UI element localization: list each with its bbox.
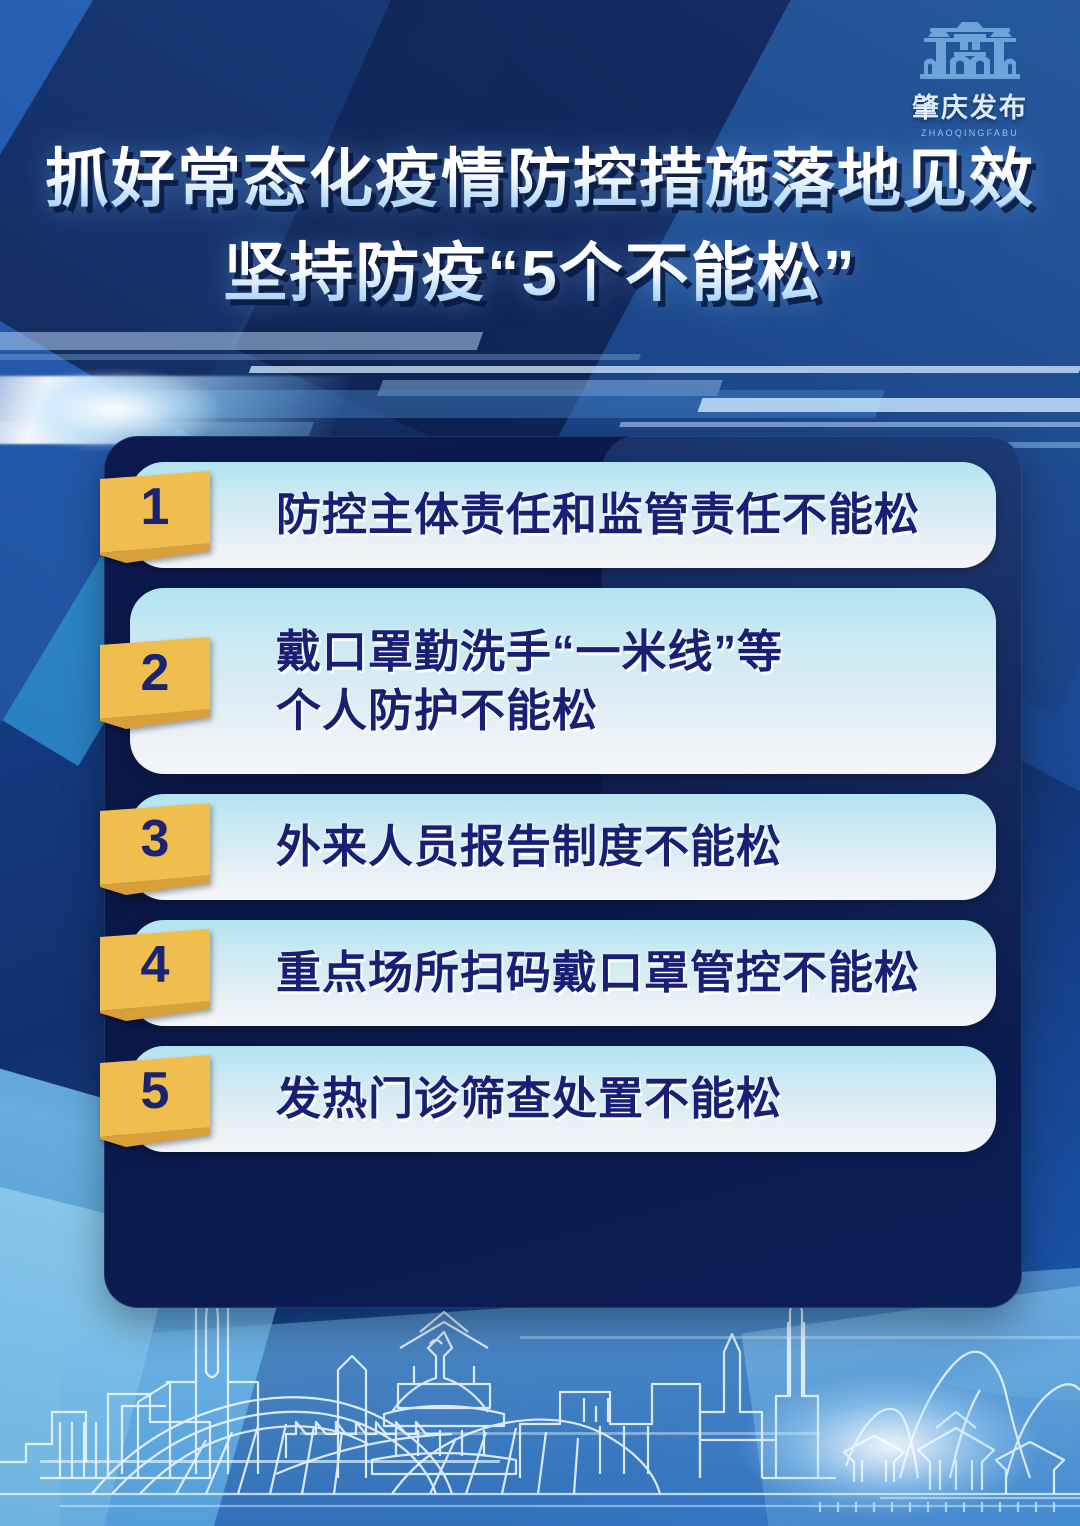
measure-text: 发热门诊筛查处置不能松 bbox=[276, 1069, 782, 1128]
list-item[interactable]: 2 戴口罩勤洗手“一米线”等 个人防护不能松 bbox=[130, 588, 996, 774]
badge-number: 4 bbox=[100, 925, 210, 1009]
list-item[interactable]: 1 防控主体责任和监管责任不能松 bbox=[130, 462, 996, 568]
logo-name: 肇庆发布 bbox=[890, 86, 1050, 125]
measure-card[interactable]: 1 防控主体责任和监管责任不能松 bbox=[130, 462, 996, 568]
number-badge: 5 bbox=[100, 1051, 222, 1147]
measure-line-1: 重点场所扫码戴口罩管控不能松 bbox=[276, 947, 920, 998]
measure-text: 戴口罩勤洗手“一米线”等 个人防护不能松 bbox=[276, 622, 783, 741]
number-badge: 2 bbox=[100, 633, 222, 729]
stripe bbox=[619, 422, 1080, 427]
stripe bbox=[0, 332, 483, 350]
measure-line-1: 外来人员报告制度不能松 bbox=[276, 821, 782, 872]
measure-line-1: 戴口罩勤洗手“一米线”等 bbox=[276, 626, 783, 677]
badge-number: 5 bbox=[100, 1051, 210, 1135]
measure-text: 防控主体责任和监管责任不能松 bbox=[276, 485, 920, 544]
glow-spot-bottom-right bbox=[740, 1376, 1040, 1516]
stripe bbox=[249, 366, 1080, 373]
measures-panel: 1 防控主体责任和监管责任不能松 2 bbox=[104, 436, 1022, 1308]
measure-card[interactable]: 3 外来人员报告制度不能松 bbox=[130, 794, 996, 900]
badge-number: 3 bbox=[100, 799, 210, 883]
number-badge: 3 bbox=[100, 799, 222, 895]
gate-archway-icon bbox=[910, 22, 1030, 84]
stripe bbox=[697, 398, 1080, 412]
logo-pinyin: ZHAOQINGFABU bbox=[890, 128, 1050, 138]
infographic-poster: 肇庆发布 ZHAOQINGFABU 抓好常态化疫情防控措施落地见效 坚持防疫“5… bbox=[0, 0, 1080, 1526]
page-title: 抓好常态化疫情防控措施落地见效 坚持防疫“5个不能松” bbox=[0, 140, 1080, 312]
measure-line-1: 发热门诊筛查处置不能松 bbox=[276, 1073, 782, 1124]
list-item[interactable]: 3 外来人员报告制度不能松 bbox=[130, 794, 996, 900]
list-item[interactable]: 5 发热门诊筛查处置不能松 bbox=[130, 1046, 996, 1152]
measure-card[interactable]: 4 重点场所扫码戴口罩管控不能松 bbox=[130, 920, 996, 1026]
number-badge: 1 bbox=[100, 467, 222, 563]
title-line-2: 坚持防疫“5个不能松” bbox=[0, 234, 1080, 312]
measure-line-1: 防控主体责任和监管责任不能松 bbox=[276, 489, 920, 540]
measures-list: 1 防控主体责任和监管责任不能松 2 bbox=[104, 436, 1022, 1308]
measure-text: 重点场所扫码戴口罩管控不能松 bbox=[276, 943, 920, 1002]
stripe bbox=[0, 354, 641, 360]
title-line-1: 抓好常态化疫情防控措施落地见效 bbox=[0, 140, 1080, 218]
brand-logo: 肇庆发布 ZHAOQINGFABU bbox=[890, 22, 1050, 138]
measure-line-2: 个人防护不能松 bbox=[276, 681, 783, 740]
list-item[interactable]: 4 重点场所扫码戴口罩管控不能松 bbox=[130, 920, 996, 1026]
badge-number: 2 bbox=[100, 633, 210, 717]
badge-number: 1 bbox=[100, 467, 210, 551]
measure-card[interactable]: 2 戴口罩勤洗手“一米线”等 个人防护不能松 bbox=[130, 588, 996, 774]
measure-card[interactable]: 5 发热门诊筛查处置不能松 bbox=[130, 1046, 996, 1152]
number-badge: 4 bbox=[100, 925, 222, 1021]
measure-text: 外来人员报告制度不能松 bbox=[276, 817, 782, 876]
